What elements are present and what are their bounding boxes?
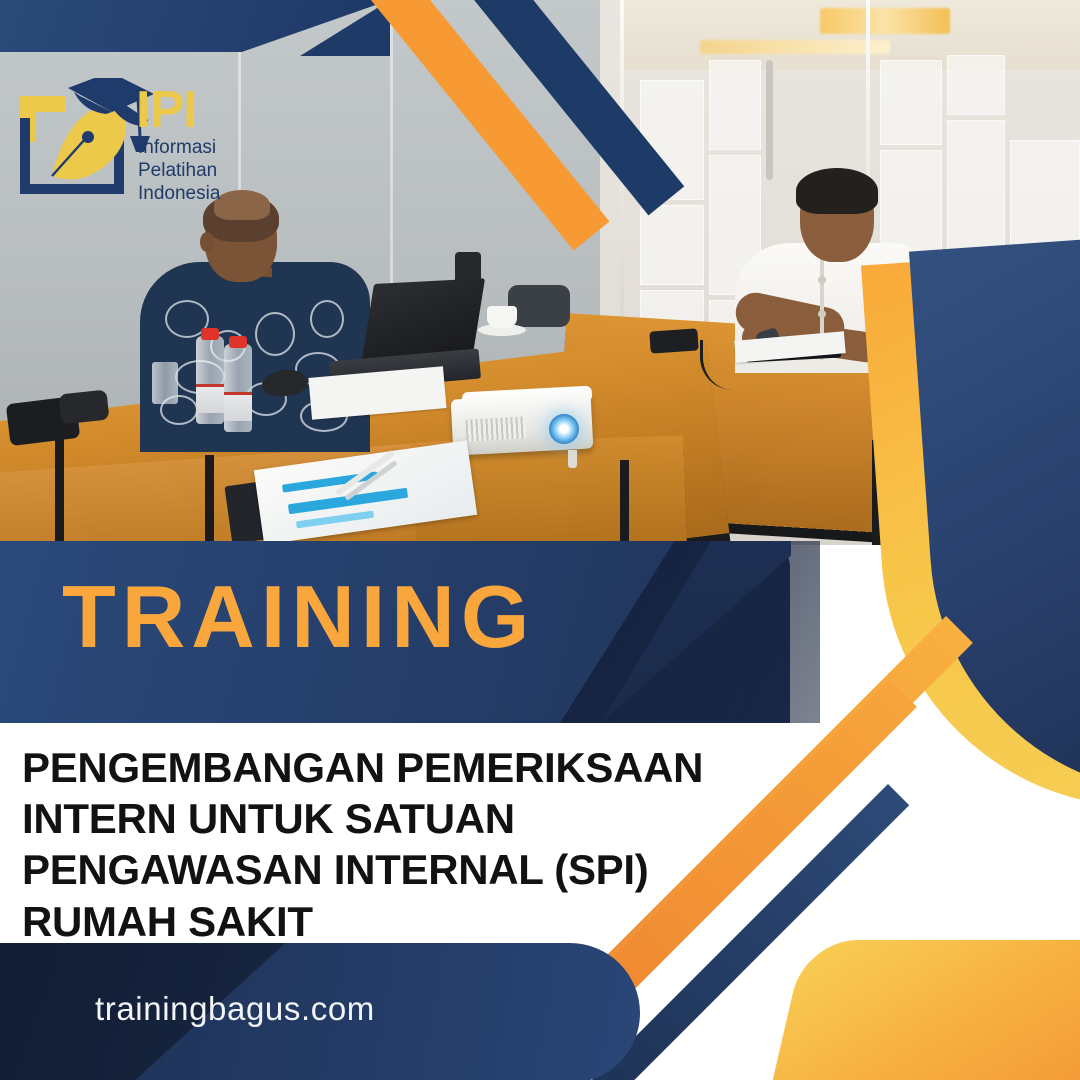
decor-bottom-orange-block [759,940,1080,1080]
training-poster: TRAINING PENGEMBANGAN PEMERIKSAAN INTERN… [0,0,1080,1080]
bottle-label [224,392,252,421]
ceiling-light-icon [820,8,950,34]
table-leg [55,430,64,545]
speaker-hair [796,168,878,214]
course-title-line-2: INTERN UNTUK SATUAN [22,793,822,844]
keys [59,390,110,425]
glass-tile [947,55,1005,115]
logo-subtitle-line-1: Informasi [138,136,220,159]
website-url[interactable]: trainingbagus.com [95,990,375,1028]
glass-tile [709,60,761,150]
projector-vent [465,416,526,441]
course-title-line-4: RUMAH SAKIT [22,896,822,947]
bottle-cap [229,336,247,348]
logo-acronym: IPI [136,84,197,136]
table-leg [620,460,629,545]
mobile-phone [649,328,698,353]
course-title-line-1: PENGEMBANGAN PEMERIKSAAN [22,742,822,793]
door-handle [766,60,773,180]
participant-ear [200,232,214,252]
ipi-logo[interactable]: IPI Informasi Pelatihan Indonesia [14,78,229,208]
course-title: PENGEMBANGAN PEMERIKSAAN INTERN UNTUK SA… [22,742,822,947]
table-leg [205,455,214,545]
logo-subtitle-line-3: Indonesia [138,182,220,205]
glass-tile [880,60,942,145]
training-banner: TRAINING [0,541,790,723]
batik-motif [310,300,344,338]
batik-motif [255,312,295,356]
laptop-bag [508,285,570,327]
course-title-line-3: PENGAWASAN INTERNAL (SPI) [22,844,822,895]
glass-tile [640,205,704,285]
projector-foot [568,450,577,468]
logo-subtitle-line-2: Pelatihan [138,159,220,182]
shirt-button [818,276,826,284]
banner-title: TRAINING [62,573,535,661]
logo-subtitle: Informasi Pelatihan Indonesia [138,136,220,206]
projector-lens-icon [549,414,579,444]
bottle-cap [201,328,219,340]
coffee-cup [487,306,517,328]
shirt-button [818,310,826,318]
banner-shadow [560,541,820,723]
drinking-glass [152,362,178,404]
bottle-label [196,384,224,413]
ceiling-light-icon [700,40,890,54]
